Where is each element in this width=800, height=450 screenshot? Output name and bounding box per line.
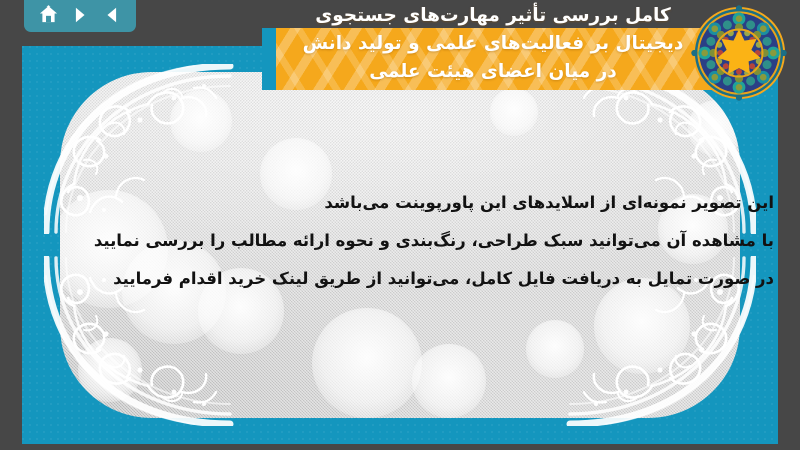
triangle-right-icon [70, 5, 90, 25]
slide-viewer: این تصویر نمونه‌ای از اسلایدهای این پاور… [0, 0, 800, 450]
slide-title: کامل بررسی تأثیر مهارت‌های جستجوی دیجیتا… [268, 2, 718, 86]
triangle-left-icon [102, 5, 122, 25]
slide-body-text: این تصویر نمونه‌ای از اسلایدهای این پاور… [82, 184, 778, 298]
navigation-bar [24, 0, 136, 32]
body-line: این تصویر نمونه‌ای از اسلایدهای این پاور… [82, 184, 774, 222]
body-line: در صورت تمایل به دریافت فایل کامل، می‌تو… [82, 260, 774, 298]
previous-slide-button[interactable] [102, 4, 123, 25]
title-line: کامل بررسی تأثیر مهارت‌های جستجوی [268, 2, 718, 30]
home-icon [38, 4, 59, 25]
title-line: دیجیتال بر فعالیت‌های علمی و تولید دانش [268, 30, 718, 58]
next-slide-button[interactable] [70, 4, 91, 25]
slide-canvas: این تصویر نمونه‌ای از اسلایدهای این پاور… [22, 46, 778, 444]
body-line: با مشاهده آن می‌توانید سبک طراحی، رنگ‌بن… [82, 222, 774, 260]
persian-medallion-icon [690, 4, 788, 102]
title-line: در میان اعضای هیئت علمی [268, 58, 718, 86]
home-button[interactable] [38, 4, 59, 25]
